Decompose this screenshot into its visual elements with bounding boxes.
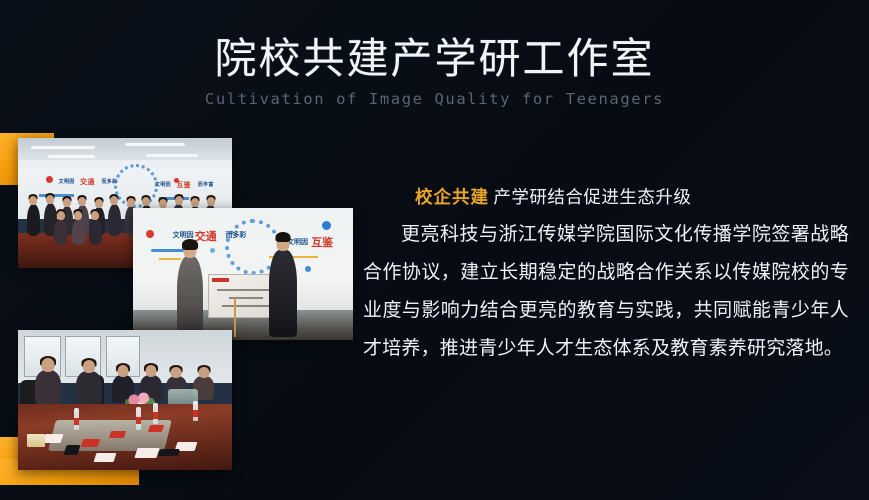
content-block: 校企共建 产学研结合促进生态升级 更亮科技与浙江传媒学院国际文化传播学院签署战略… [363, 182, 849, 368]
photo-meeting-room [18, 330, 232, 470]
content-heading-rest: 产学研结合促进生态升级 [493, 187, 691, 207]
slide-subtitle: Cultivation of Image Quality for Teenage… [0, 88, 869, 110]
content-heading-highlight: 校企共建 [415, 187, 489, 207]
content-heading: 校企共建 产学研结合促进生态升级 [363, 182, 849, 212]
photo-plaque-ceremony: 文明因 交通 而多彩 文明因 互鉴 [133, 208, 353, 340]
presentation-slide: 院校共建产学研工作室 Cultivation of Image Quality … [0, 0, 869, 500]
slide-title: 院校共建产学研工作室 [0, 34, 869, 84]
content-body-paragraph: 更亮科技与浙江传媒学院国际文化传播学院签署战略合作协议，建立长期稳定的战略合作关… [363, 216, 849, 368]
slide-header: 院校共建产学研工作室 Cultivation of Image Quality … [0, 34, 869, 110]
